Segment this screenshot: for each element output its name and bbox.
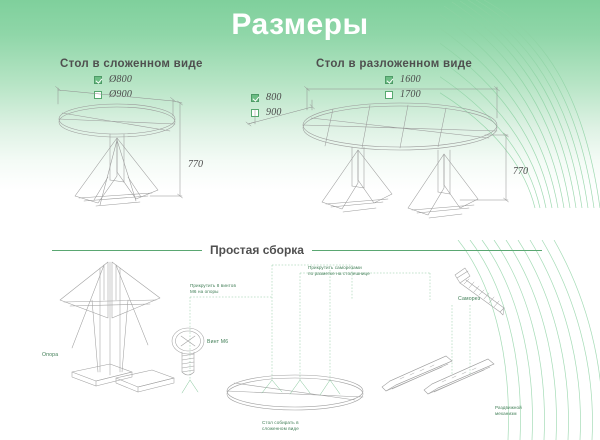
checkbox-checked-icon[interactable] <box>385 76 393 84</box>
assembly-section-divider: Простая сборка <box>0 240 600 260</box>
divider-line-left <box>52 250 202 251</box>
option-row[interactable]: Ø800 <box>94 73 132 86</box>
checkbox-unchecked-icon[interactable] <box>251 109 259 117</box>
option-label: 1700 <box>400 89 421 100</box>
part-label-support: Опора <box>42 352 58 358</box>
heading-assembly: Простая сборка <box>202 243 312 257</box>
option-label: Ø800 <box>109 74 132 85</box>
decorative-swoosh-bottom <box>450 240 600 440</box>
folded-diameter-options: Ø800 Ø900 <box>94 73 132 103</box>
unfolded-height-label: 770 <box>513 166 528 177</box>
option-label: 900 <box>266 107 282 118</box>
option-row[interactable]: 800 <box>251 91 282 104</box>
checkbox-checked-icon[interactable] <box>251 94 259 102</box>
option-row[interactable]: 1600 <box>385 73 421 86</box>
option-row[interactable]: 900 <box>251 106 282 119</box>
note-screw-tabletop: Прикрутить саморезами по разметке на сто… <box>308 265 370 277</box>
option-label: 800 <box>266 92 282 103</box>
checkbox-unchecked-icon[interactable] <box>94 91 102 99</box>
unfolded-width-options: 800 900 <box>251 91 282 121</box>
heading-folded-table: Стол в сложенном виде <box>60 58 203 70</box>
checkbox-unchecked-icon[interactable] <box>385 91 393 99</box>
page-title: Размеры <box>0 8 600 42</box>
part-label-screw: Саморез <box>458 296 480 302</box>
option-row[interactable]: Ø900 <box>94 88 132 101</box>
checkbox-checked-icon[interactable] <box>94 76 102 84</box>
option-row[interactable]: 1700 <box>385 88 421 101</box>
note-assemble-folded: Стол собирать в сложенном виде <box>262 420 299 432</box>
part-label-bolt: Винт М6 <box>207 339 228 345</box>
heading-unfolded-table: Стол в разложенном виде <box>316 58 472 70</box>
infographic-page: Размеры <box>0 0 600 440</box>
folded-height-label: 770 <box>188 159 203 170</box>
divider-line-right <box>312 250 542 251</box>
unfolded-length-options: 1600 1700 <box>385 73 421 103</box>
part-label-mechanism: Раздвижной механизм <box>495 405 522 417</box>
note-screw-supports: Прикрутить 8 винтов М6 на опоры <box>190 283 236 295</box>
option-label: 1600 <box>400 74 421 85</box>
option-label: Ø900 <box>109 89 132 100</box>
